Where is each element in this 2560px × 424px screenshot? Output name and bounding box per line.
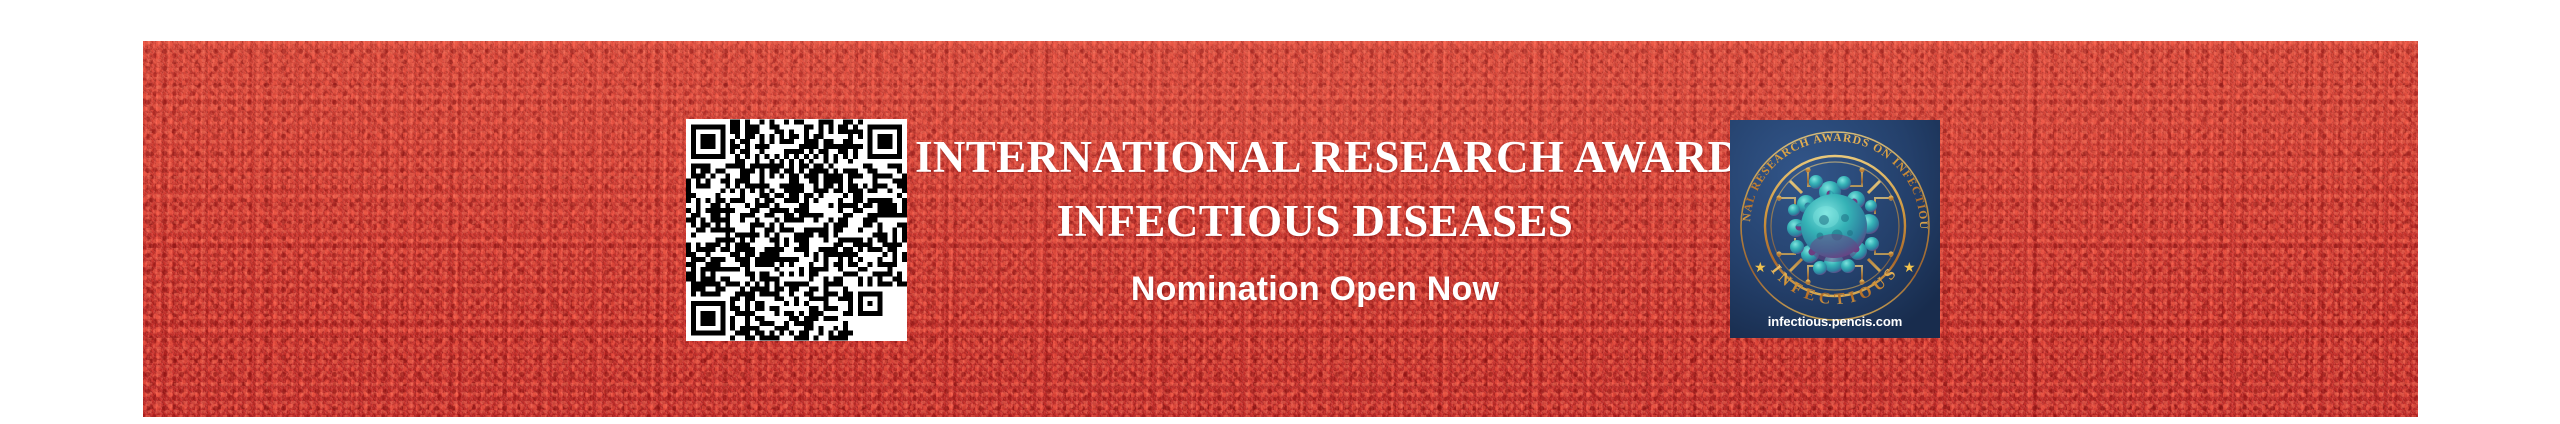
award-badge-emblem: INTERNATIONAL RESEARCH AWARDS ON INFECTI… [1730,120,1940,338]
star-right-icon: ★ [1903,259,1916,275]
headline-block: INTERNATIONAL RESEARCH AWARDS ON INFECTI… [915,125,1715,253]
subtitle-nomination: Nomination Open Now [915,266,1715,312]
badge-website-url[interactable]: infectious.pencis.com [1730,314,1940,329]
award-badge[interactable]: INTERNATIONAL RESEARCH AWARDS ON INFECTI… [1730,120,1940,338]
headline-line-2: INFECTIOUS DISEASES [915,189,1715,253]
headline-line-1: INTERNATIONAL RESEARCH AWARDS ON [915,125,1715,189]
qr-code[interactable] [686,119,907,341]
screenshot-canvas: INTERNATIONAL RESEARCH AWARDS ON INFECTI… [0,0,2560,424]
star-left-icon: ★ [1754,259,1767,275]
qr-code-image [686,119,907,341]
